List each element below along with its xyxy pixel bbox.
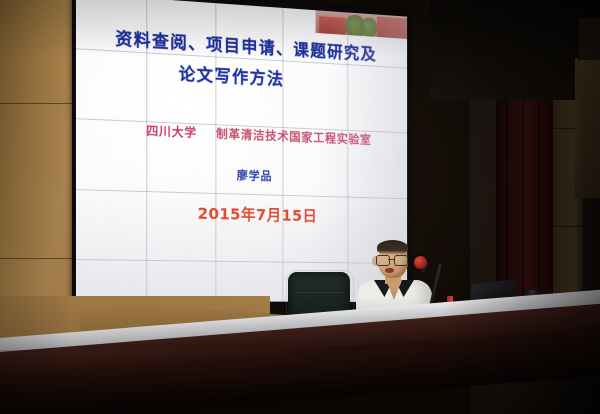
speaker-mouth: [385, 268, 394, 273]
eyeglasses-icon: [376, 255, 408, 264]
wall-speaker: [578, 18, 600, 60]
slide-date: 2015年7月15日: [198, 200, 318, 226]
slide-lab: 制革清洁技术国家工程实验室: [216, 126, 371, 147]
right-upper-wall: [575, 58, 600, 198]
photo-scene: 资料查阅、项目申请、课题研究及 论文写作方法 四川大学 制革清洁技术国家工程实验…: [0, 0, 600, 414]
speaker-hair: [377, 240, 408, 255]
slide-university: 四川大学: [146, 123, 197, 140]
microphone-icon[interactable]: [414, 256, 427, 269]
pillar-seam: [553, 226, 583, 227]
slide-organization: 四川大学 制革清洁技术国家工程实验室: [146, 120, 371, 148]
slide-presenter: 廖学品: [237, 167, 273, 184]
slide-title-line-1: 资料查阅、项目申请、课题研究及: [115, 26, 377, 66]
table-shading: [0, 350, 600, 414]
slide-title-line-2: 论文写作方法: [179, 61, 284, 91]
